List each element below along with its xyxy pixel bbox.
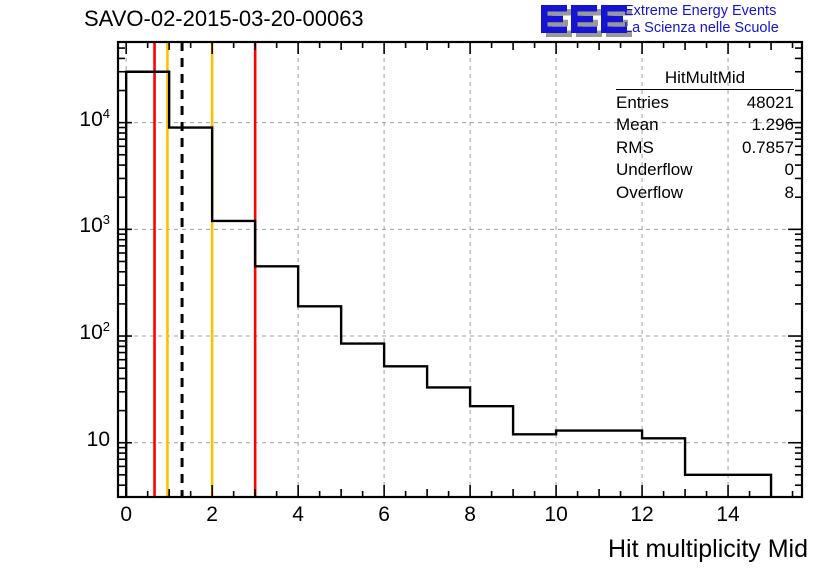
stats-box: HitMultMid Entries48021Mean1.296RMS0.785… [612,68,798,204]
stats-row-value: 0.7857 [742,137,794,159]
stats-row-label: Entries [616,92,669,114]
stats-row-value: 48021 [747,92,794,114]
page-title: SAVO-02-2015-03-20-00063 [84,6,364,32]
stats-row: RMS0.7857 [612,137,798,159]
stats-row-label: Mean [616,114,659,136]
stats-row-value: 0 [785,159,794,181]
y-axis-tick-label: 104 [79,108,110,132]
eee-logo-line2: La Scienza nelle Scuole [624,20,779,36]
eee-logo: Extreme Energy Events La Scienza nelle S… [532,2,832,38]
x-axis-tick-label: 8 [440,503,500,527]
stats-row: Mean1.296 [612,114,798,136]
x-axis-tick-label: 10 [526,503,586,527]
x-axis-title: Hit multiplicity Mid [608,535,808,564]
y-axis-tick-label: 103 [79,214,110,238]
eee-logo-line1: Extreme Energy Events [624,3,776,19]
stats-row-value: 8 [785,182,794,204]
x-axis-tick-label: 14 [698,503,758,527]
stats-row: Entries48021 [612,92,798,114]
x-axis-tick-label: 6 [354,503,414,527]
stats-row: Underflow0 [612,159,798,181]
x-axis-tick-label: 0 [96,503,156,527]
stats-row: Overflow8 [612,182,798,204]
stats-row-label: Overflow [616,182,683,204]
stats-histogram-name: HitMultMid [616,68,794,90]
y-axis-tick-label: 10 [87,428,110,452]
stats-row-label: RMS [616,137,654,159]
stats-rows: Entries48021Mean1.296RMS0.7857Underflow0… [612,92,798,204]
y-axis-tick-label: 102 [79,321,110,345]
stats-row-value: 1.296 [751,114,794,136]
stats-row-label: Underflow [616,159,693,181]
x-axis-tick-label: 12 [612,503,672,527]
x-axis-tick-label: 2 [182,503,242,527]
x-axis-tick-label: 4 [268,503,328,527]
